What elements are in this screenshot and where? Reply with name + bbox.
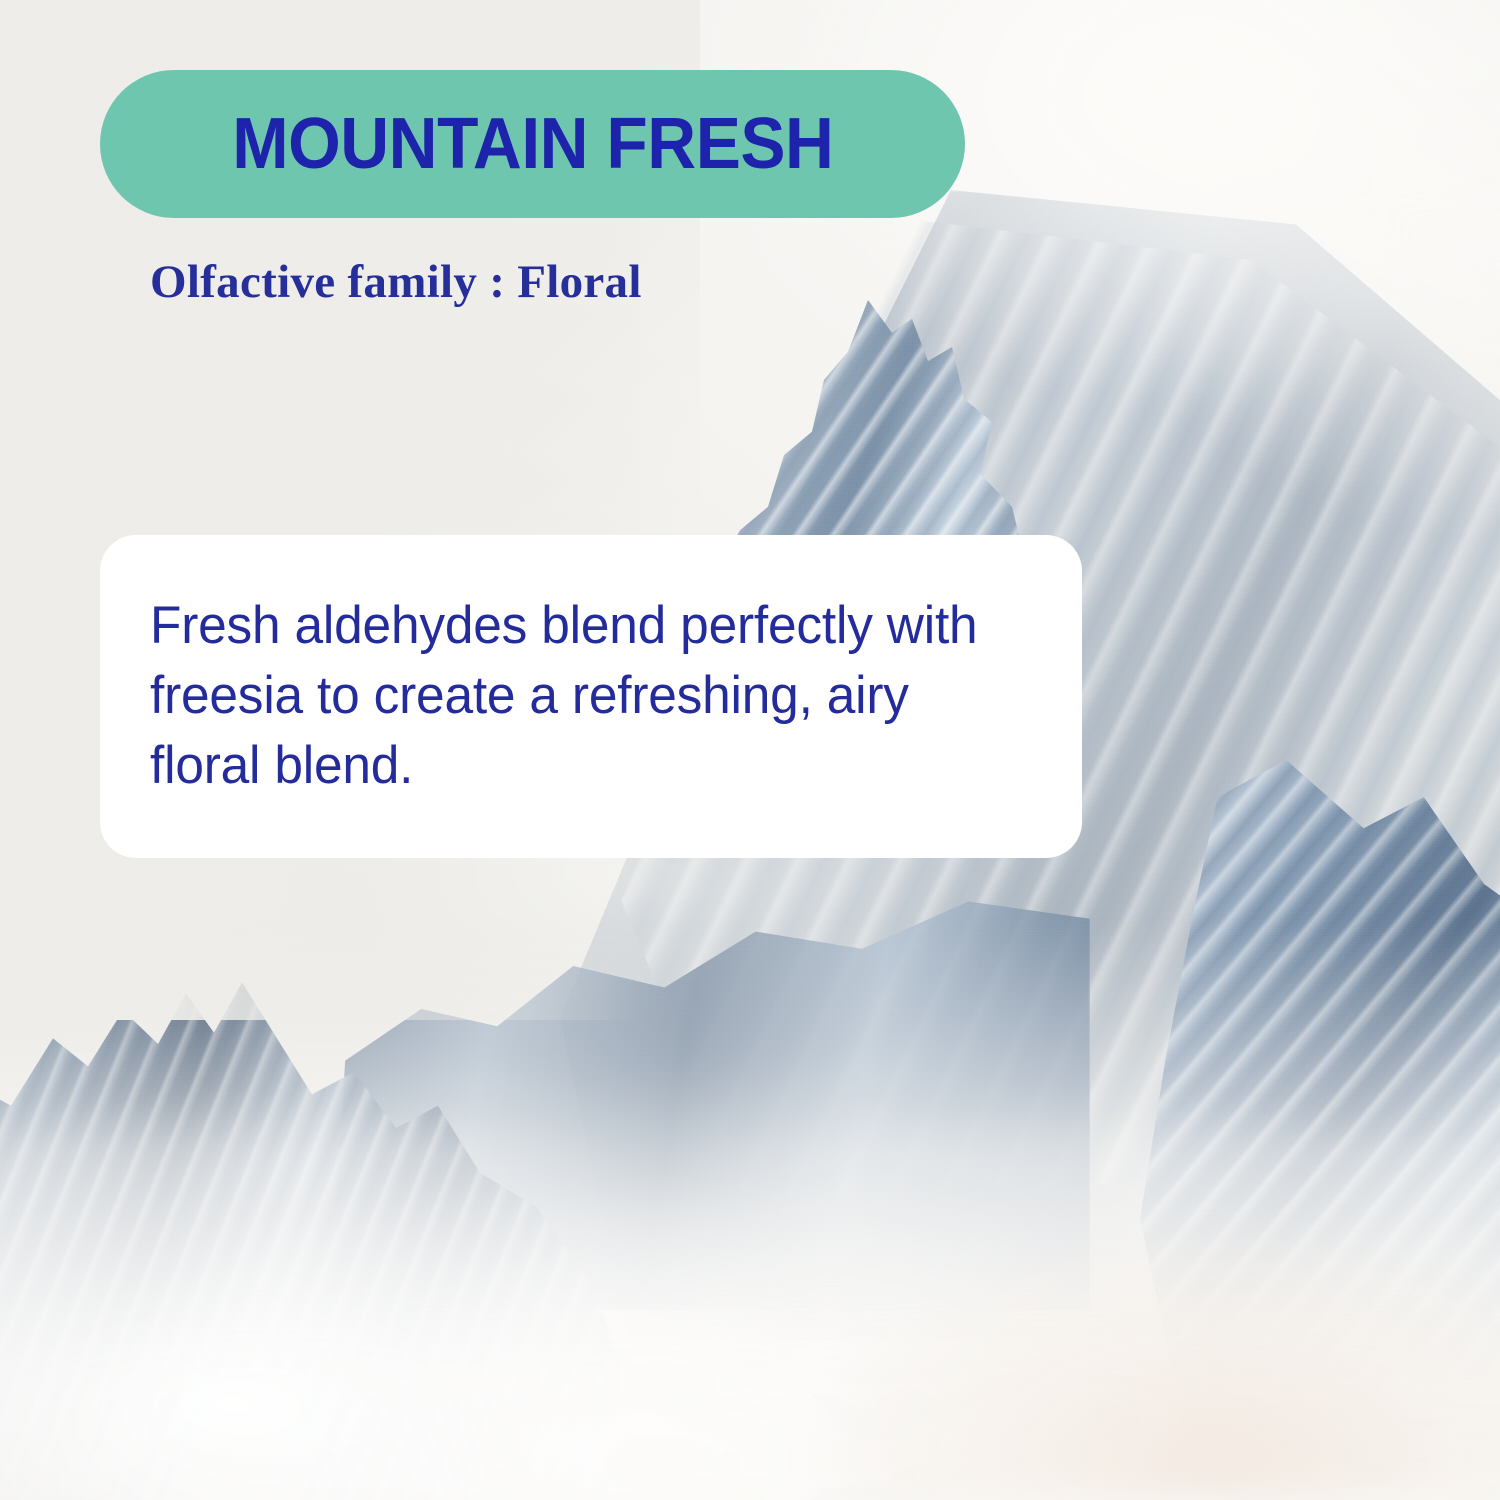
product-graphic-canvas: MOUNTAIN FRESH Olfactive family : Floral… <box>0 0 1500 1500</box>
headline-title: MOUNTAIN FRESH <box>232 108 833 180</box>
description-card: Fresh aldehydes blend perfectly with fre… <box>100 535 1082 858</box>
headline-pill: MOUNTAIN FRESH <box>100 70 965 218</box>
description-text: Fresh aldehydes blend perfectly with fre… <box>150 591 1013 801</box>
olfactive-family-label: Olfactive family : Floral <box>150 255 642 309</box>
